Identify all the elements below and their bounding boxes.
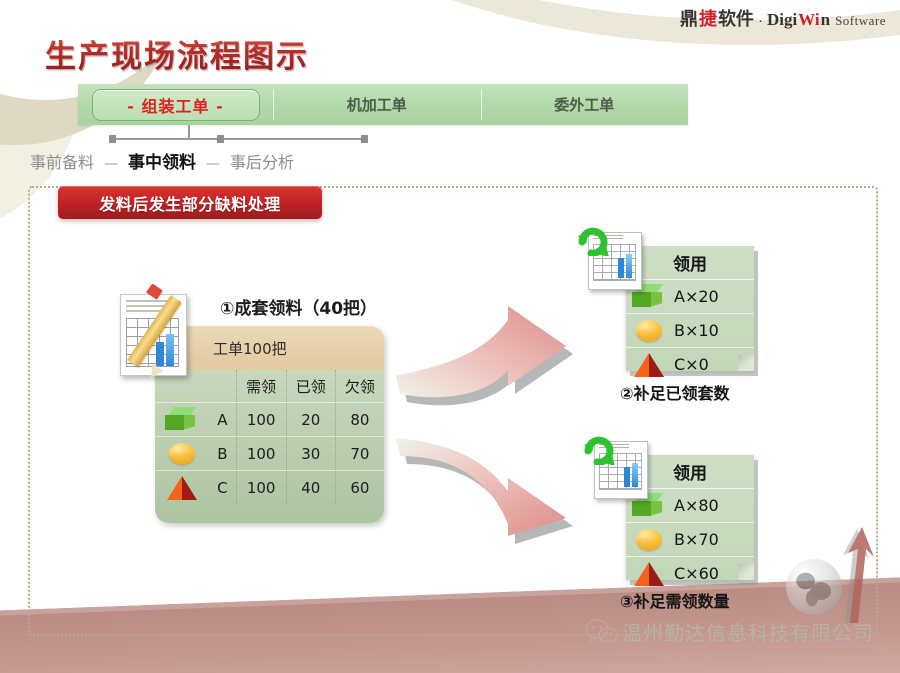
list-item: C×60 bbox=[626, 557, 754, 591]
col-name bbox=[209, 370, 236, 403]
result-table-1: 领用 A×20 B×10 C×0 bbox=[626, 246, 754, 381]
cell-shortage: 80 bbox=[335, 403, 384, 437]
logo-en-suffix: Software bbox=[835, 13, 886, 29]
spreadsheet-bar-1 bbox=[618, 258, 624, 278]
tab-outsourcing-work-order[interactable]: 委外工单 bbox=[481, 84, 689, 125]
tab-machining-label: 机加工单 bbox=[347, 94, 407, 115]
list-item: A×20 bbox=[626, 280, 754, 314]
step-tick-2 bbox=[217, 135, 224, 143]
logo-cn-1: 鼎 bbox=[680, 5, 698, 31]
cell-required: 100 bbox=[236, 403, 286, 437]
row-icon-cell bbox=[155, 403, 209, 437]
brand-logo: 鼎 捷 软件 · Digi Wi n Software bbox=[680, 5, 886, 31]
document-bar-2 bbox=[166, 334, 174, 366]
logo-en-2: n bbox=[821, 10, 830, 30]
spreadsheet-bar-2 bbox=[626, 254, 632, 278]
cell-shortage: 70 bbox=[335, 437, 384, 471]
cell-required: 100 bbox=[236, 471, 286, 505]
scenario-banner: 发料后发生部分缺料处理 bbox=[58, 186, 322, 219]
tab-machining-work-order[interactable]: 机加工单 bbox=[273, 84, 481, 125]
cell-issued: 40 bbox=[286, 471, 335, 505]
logo-en-red: Wi bbox=[798, 10, 819, 30]
spreadsheet-bar-2 bbox=[632, 463, 638, 487]
logo-cn-2: 软件 bbox=[718, 5, 754, 31]
cell-shortage: 60 bbox=[335, 471, 384, 505]
cube-icon bbox=[165, 407, 199, 433]
result-title-row: 领用 bbox=[626, 246, 754, 280]
document-pencil-icon bbox=[120, 294, 196, 380]
row-icon-cell bbox=[155, 437, 209, 471]
cell-name: A bbox=[209, 403, 236, 437]
page-fold-corner bbox=[738, 355, 754, 371]
disc-icon bbox=[632, 318, 666, 344]
result-caption-2: ③补足需领数量 bbox=[620, 588, 730, 612]
result-icon-cell bbox=[626, 557, 672, 591]
col-issued: 已领 bbox=[286, 370, 335, 403]
logo-cn-red: 捷 bbox=[699, 5, 717, 31]
table-row: A 100 20 80 bbox=[155, 403, 384, 437]
pyramid-icon bbox=[165, 475, 199, 501]
wechat-icon bbox=[585, 618, 619, 646]
result-icon-cell bbox=[626, 523, 672, 557]
step-separator-1: — bbox=[104, 156, 118, 172]
document-bar-1 bbox=[156, 342, 164, 366]
logo-dot: · bbox=[758, 12, 763, 29]
step-separator-2: — bbox=[206, 156, 220, 172]
disc-icon bbox=[632, 527, 666, 553]
worksheet-tabbar: - 组装工单 - 机加工单 委外工单 bbox=[78, 84, 688, 125]
logo-en-1: Digi bbox=[767, 10, 797, 30]
pyramid-icon bbox=[632, 561, 666, 587]
cell-issued: 30 bbox=[286, 437, 335, 471]
footer-watermark: 温州勤达信息科技有限公司 bbox=[622, 617, 874, 646]
col-required: 需领 bbox=[236, 370, 286, 403]
step-item-post-analysis[interactable]: 事后分析 bbox=[230, 149, 294, 173]
page-fold-corner bbox=[738, 564, 754, 580]
page-title: 生产现场流程图示 bbox=[45, 31, 309, 76]
step-connector-stem bbox=[188, 125, 190, 139]
list-item: B×10 bbox=[626, 314, 754, 348]
step-list: 事前备料 — 事中领料 — 事后分析 bbox=[30, 148, 294, 173]
table-row: C 100 40 60 bbox=[155, 471, 384, 505]
pyramid-icon bbox=[632, 352, 666, 378]
step-tick-1 bbox=[109, 135, 116, 143]
step-connector-rail bbox=[112, 138, 367, 140]
row-icon-cell bbox=[155, 471, 209, 505]
cell-issued: 20 bbox=[286, 403, 335, 437]
result-icon-cell bbox=[626, 348, 672, 382]
green-recycle-arrows-icon bbox=[576, 226, 610, 256]
list-item: B×70 bbox=[626, 523, 754, 557]
list-item: C×0 bbox=[626, 348, 754, 382]
spreadsheet-bar-1 bbox=[624, 467, 630, 487]
arrow-down-right-icon bbox=[390, 418, 590, 553]
table-row: B 100 30 70 bbox=[155, 437, 384, 471]
slide-canvas: 鼎 捷 软件 · Digi Wi n Software 生产现场流程图示 生产现… bbox=[0, 0, 900, 673]
result-item-label: B×70 bbox=[672, 523, 754, 557]
result-card-1: 领用 A×20 B×10 C×0 bbox=[626, 246, 754, 371]
cell-name: C bbox=[209, 471, 236, 505]
step-item-pre-prep[interactable]: 事前备料 bbox=[30, 149, 94, 173]
spreadsheet-refresh-icon-1 bbox=[580, 228, 642, 290]
arrow-up-right-icon bbox=[390, 300, 590, 435]
result-item-label: A×20 bbox=[672, 280, 754, 314]
left-caption: ①成套领料（40把） bbox=[220, 294, 377, 319]
result-item-label: A×80 bbox=[672, 489, 754, 523]
work-order-table: 需领 已领 欠领 A 100 20 80 bbox=[155, 370, 384, 504]
step-item-in-process-issue[interactable]: 事中领料 bbox=[128, 148, 196, 173]
result-caption-1: ②补足已领套数 bbox=[620, 380, 730, 404]
spreadsheet-refresh-icon-2 bbox=[586, 437, 648, 499]
tab-assembly-work-order[interactable]: - 组装工单 - bbox=[78, 84, 273, 125]
cell-name: B bbox=[209, 437, 236, 471]
tab-outsourcing-label: 委外工单 bbox=[554, 94, 614, 115]
green-recycle-arrows-icon bbox=[582, 435, 616, 465]
tab-assembly-label: - 组装工单 - bbox=[92, 89, 260, 121]
result-item-label: B×10 bbox=[672, 314, 754, 348]
result-title-1: 领用 bbox=[626, 246, 754, 280]
result-icon-cell bbox=[626, 314, 672, 348]
step-tick-3 bbox=[361, 135, 368, 143]
cell-required: 100 bbox=[236, 437, 286, 471]
disc-icon bbox=[165, 441, 199, 467]
col-shortage: 欠领 bbox=[335, 370, 384, 403]
